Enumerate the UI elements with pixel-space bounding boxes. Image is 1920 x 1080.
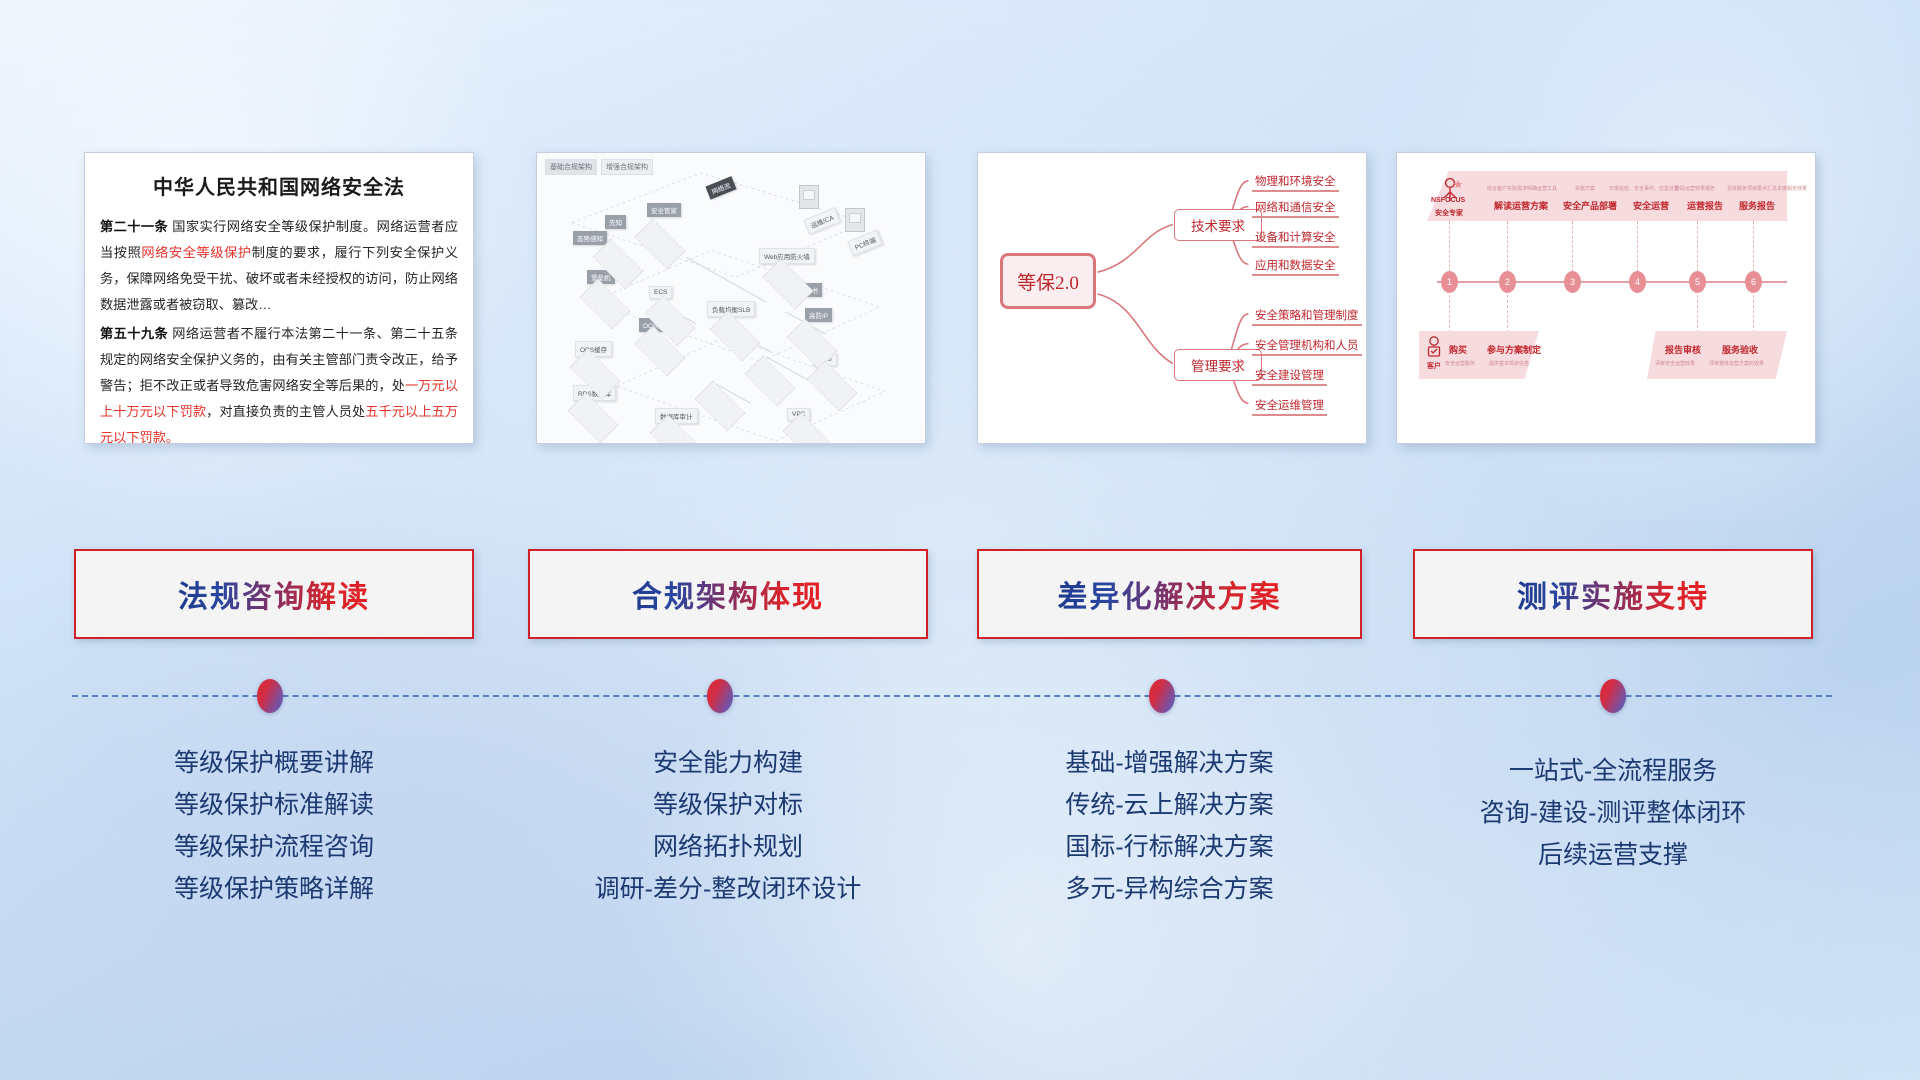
header-box-regulation-consulting[interactable]: 法规咨询解读 — [74, 549, 474, 639]
mindmap-group-management: 管理要求 — [1174, 349, 1262, 381]
flow-dash-0 — [1449, 221, 1450, 277]
flow-right-main-1: 报告审核 — [1665, 343, 1701, 356]
header-box-differentiated-solution[interactable]: 差异化解决方案 — [977, 549, 1362, 639]
card-assessment-flow[interactable]: NSFOCUS 安全专家 结合客户实际需求明确运营工具 解读运营方案 实施方案 … — [1396, 152, 1816, 444]
card-compliance-architecture[interactable]: 基础合规架构 增强合规架构 网络流 安全管家 — [536, 152, 926, 444]
header-label-2: 合规架构体现 — [632, 572, 824, 616]
flow-top-main-5: 服务报告 — [1739, 199, 1775, 212]
timeline-dashed-line — [72, 695, 1832, 697]
list-item: 多元-异构综合方案 — [977, 868, 1362, 910]
list-item: 等级保护对标 — [528, 784, 928, 826]
list-column-1: 等级保护概要讲解 等级保护标准解读 等级保护流程咨询 等级保护策略详解 — [74, 742, 474, 910]
flow-band-expert — [1427, 171, 1787, 221]
law-article-59: 第五十九条 网络运营者不履行本法第二十一条、第二十五条规定的网络安全保护义务的，… — [100, 321, 458, 444]
flow-dash-5 — [1753, 221, 1754, 277]
architecture-diagram: 基础合规架构 增强合规架构 网络流 安全管家 — [537, 153, 925, 443]
list-item: 咨询-建设-测评整体闭环 — [1403, 792, 1823, 834]
customer-person-icon — [1425, 335, 1443, 361]
list-item: 安全能力构建 — [528, 742, 928, 784]
mindmap-leaf-physical-env: 物理和环境安全 — [1252, 173, 1339, 192]
law-article-21: 第二十一条 国家实行网络安全等级保护制度。网络运营者应当按照网络安全等级保护制度… — [100, 214, 458, 319]
flow-left-sub-1: 安全运营服务 — [1445, 360, 1475, 367]
mindmap-leaf-construction-mgmt: 安全建设管理 — [1252, 367, 1327, 386]
flow-dash-b2 — [1697, 295, 1698, 333]
arch-node-xianzhi: 先知 — [605, 215, 626, 229]
list-item: 传统-云上解决方案 — [977, 784, 1362, 826]
mindmap-leaf-app-data: 应用和数据安全 — [1252, 257, 1339, 276]
flow-diagram: NSFOCUS 安全专家 结合客户实际需求明确运营工具 解读运营方案 实施方案 … — [1397, 153, 1815, 443]
law-article-59-text-2: ，对直接负责的主管人员处 — [206, 404, 365, 419]
list-item: 等级保护标准解读 — [74, 784, 474, 826]
law-article-59-label: 第五十九条 — [100, 326, 168, 341]
mindmap-leaf-org-personnel: 安全管理机构和人员 — [1252, 337, 1362, 356]
arch-node-security-butler: 安全管家 — [647, 203, 681, 217]
flow-node-6: 6 — [1745, 271, 1762, 293]
law-article-21-highlight: 网络安全等级保护 — [141, 245, 251, 260]
list-item: 等级保护流程咨询 — [74, 826, 474, 868]
arch-screen-ops — [799, 185, 819, 209]
list-column-3: 基础-增强解决方案 传统-云上解决方案 国标-行标解决方案 多元-异构综合方案 — [977, 742, 1362, 910]
flow-node-3: 3 — [1564, 271, 1581, 293]
mindmap-leaf-policy-system: 安全策略和管理制度 — [1252, 307, 1362, 326]
header-label-3: 差异化解决方案 — [1058, 572, 1282, 616]
flow-dash-b3 — [1753, 295, 1754, 333]
list-item: 等级保护概要讲解 — [74, 742, 474, 784]
flow-right-sub-1: 评审安全运营效果 — [1655, 360, 1695, 367]
law-article-21-label: 第二十一条 — [100, 219, 168, 234]
flow-top-sub-5: 总体服务项目要点汇总本度服务效果 — [1727, 185, 1807, 192]
flow-dash-3 — [1637, 221, 1638, 277]
customer-role-label: 客户 — [1427, 361, 1441, 371]
mindmap-core: 等保2.0 — [1000, 253, 1096, 309]
mindmap-group-technical: 技术要求 — [1174, 209, 1262, 241]
flow-top-sub-4: 阶段运营效果报告 — [1675, 185, 1715, 192]
mindmap-leaf-network-comm: 网络和通信安全 — [1252, 199, 1339, 218]
list-item: 后续运营支撑 — [1403, 834, 1823, 876]
flow-top-sub-2: 实施方案 — [1575, 185, 1595, 192]
flow-top-main-2: 安全产品部署 — [1563, 199, 1617, 212]
expert-brand-label: NSFOCUS — [1431, 197, 1465, 204]
arch-node-situational-awareness: 态势感知 — [573, 231, 607, 245]
mindmap: 等保2.0 技术要求 物理和环境安全 网络和通信安全 设备和计算安全 应用和数据… — [978, 153, 1366, 443]
mindmap-leaf-device-compute: 设备和计算安全 — [1252, 229, 1339, 248]
flow-node-1: 1 — [1441, 271, 1458, 293]
flow-dash-2 — [1572, 221, 1573, 277]
image-cards-row: 中华人民共和国网络安全法 第二十一条 国家实行网络安全等级保护制度。网络运营者应… — [0, 152, 1920, 452]
arch-screen-pc — [845, 208, 865, 232]
flow-top-sub-3: 日常巡检、安全事件、应急处置 — [1609, 185, 1679, 192]
list-item: 网络拓扑规划 — [528, 826, 928, 868]
flow-left-main-1: 购买 — [1449, 343, 1467, 356]
flow-dash-1 — [1507, 221, 1508, 277]
header-box-compliance-architecture[interactable]: 合规架构体现 — [528, 549, 928, 639]
flow-dash-4 — [1697, 221, 1698, 277]
list-column-4: 一站式-全流程服务 咨询-建设-测评整体闭环 后续运营支撑 — [1403, 750, 1823, 876]
mindmap-leaf-ops-mgmt: 安全运维管理 — [1252, 397, 1327, 416]
flow-node-5: 5 — [1689, 271, 1706, 293]
arch-node-waf: Web应用防火墙 — [759, 248, 815, 264]
list-item: 基础-增强解决方案 — [977, 742, 1362, 784]
flow-top-main-4: 运营报告 — [1687, 199, 1723, 212]
timeline-dot-1[interactable] — [257, 679, 283, 713]
timeline-dot-4[interactable] — [1600, 679, 1626, 713]
expert-role-label: 安全专家 — [1435, 208, 1463, 218]
list-item: 国标-行标解决方案 — [977, 826, 1362, 868]
flow-node-4: 4 — [1629, 271, 1646, 293]
header-label-1: 法规咨询解读 — [178, 572, 370, 616]
flow-top-sub-1: 结合客户实际需求明确运营工具 — [1487, 185, 1557, 192]
timeline-dot-3[interactable] — [1149, 679, 1175, 713]
list-item: 等级保护策略详解 — [74, 868, 474, 910]
flow-node-2: 2 — [1499, 271, 1516, 293]
flow-left-main-2: 参与方案制定 — [1487, 343, 1541, 356]
card-dengbao-mindmap[interactable]: 等保2.0 技术要求 物理和环境安全 网络和通信安全 设备和计算安全 应用和数据… — [977, 152, 1367, 444]
list-item: 一站式-全流程服务 — [1403, 750, 1823, 792]
flow-right-main-2: 服务验收 — [1722, 343, 1758, 356]
list-item: 调研-差分-整改闭环设计 — [528, 868, 928, 910]
card-cybersecurity-law[interactable]: 中华人民共和国网络安全法 第二十一条 国家实行网络安全等级保护制度。网络运营者应… — [84, 152, 474, 444]
timeline-dot-2[interactable] — [707, 679, 733, 713]
flow-top-main-3: 安全运营 — [1633, 199, 1669, 212]
flow-left-sub-2: 提供基本现状信息 — [1489, 360, 1529, 367]
flow-dash-b1 — [1507, 295, 1508, 333]
list-column-2: 安全能力构建 等级保护对标 网络拓扑规划 调研-差分-整改闭环设计 — [528, 742, 928, 910]
flow-dash-b0 — [1449, 295, 1450, 333]
flow-top-main-1: 解读运营方案 — [1494, 199, 1548, 212]
arch-node-anti-ddos: 高防IP — [805, 308, 832, 322]
header-box-assessment-support[interactable]: 测评实施支持 — [1413, 549, 1813, 639]
flow-right-sub-2: 评审整体运营方案的效果 — [1709, 360, 1764, 367]
law-title: 中华人民共和国网络安全法 — [85, 171, 473, 200]
header-label-4: 测评实施支持 — [1517, 572, 1709, 616]
law-body: 第二十一条 国家实行网络安全等级保护制度。网络运营者应当按照网络安全等级保护制度… — [85, 214, 473, 444]
flow-axis-line — [1437, 281, 1787, 283]
